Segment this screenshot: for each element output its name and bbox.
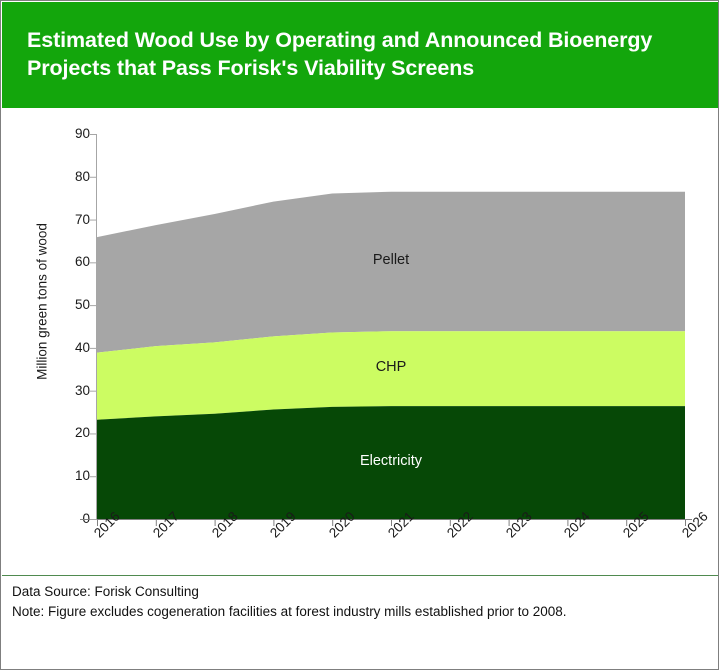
title-line-1: Estimated Wood Use by Operating and Anno…	[27, 28, 652, 52]
plot-area: Pellet CHP Electricity	[97, 134, 685, 519]
title-line-2: Projects that Pass Forisk's Viability Sc…	[27, 56, 474, 80]
series-label-pellet: Pellet	[373, 252, 409, 268]
series-label-chp: CHP	[376, 359, 407, 375]
series-label-electricity: Electricity	[360, 453, 422, 469]
footer-note: Note: Figure excludes cogeneration facil…	[12, 604, 567, 619]
chart-figure: Estimated Wood Use by Operating and Anno…	[0, 0, 719, 670]
title-banner: Estimated Wood Use by Operating and Anno…	[2, 2, 718, 108]
area-series-pellet	[97, 192, 685, 353]
page-title: Estimated Wood Use by Operating and Anno…	[27, 26, 700, 82]
footer-source: Data Source: Forisk Consulting	[12, 584, 199, 599]
plot-panel: Million green tons of wood 0102030405060…	[2, 109, 718, 575]
footer: Data Source: Forisk Consulting Note: Fig…	[2, 575, 718, 669]
